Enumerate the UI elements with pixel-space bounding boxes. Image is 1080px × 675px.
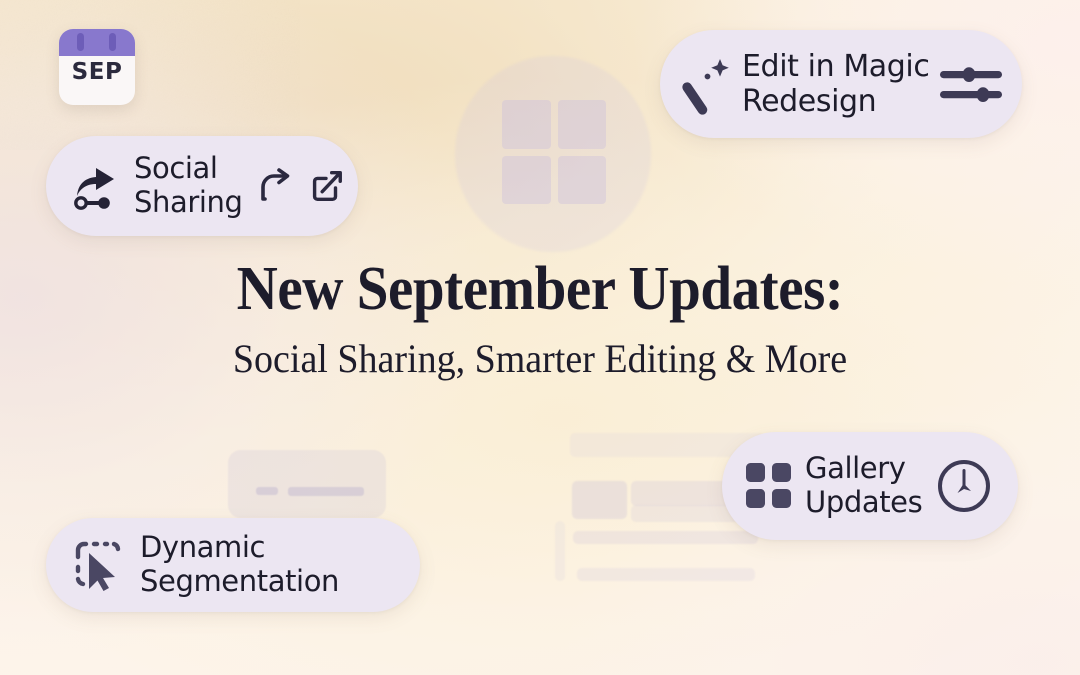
watermark-grid-icon (502, 100, 606, 204)
watermark-block (573, 531, 758, 544)
headline-block: New September Updates: Social Sharing, S… (0, 258, 1080, 381)
watermark-block (555, 521, 565, 581)
watermark-circle (455, 56, 651, 252)
calendar-month-label: SEP (59, 59, 135, 85)
pill-social-sharing[interactable]: Social Sharing (46, 136, 358, 236)
pill-dynamic-segmentation[interactable]: Dynamic Segmentation (46, 518, 420, 612)
pill-edit-in-magic-redesign[interactable]: Edit in Magic Redesign (660, 30, 1022, 138)
pill-label: Gallery Updates (805, 452, 922, 520)
external-share-icon[interactable] (255, 166, 295, 206)
pill-label: Edit in Magic Redesign (742, 49, 929, 119)
page-subtitle: Social Sharing, Smarter Editing & More (27, 337, 1053, 381)
watermark-block (577, 568, 755, 581)
background-grain-texture (0, 0, 300, 150)
page-title: New September Updates: (43, 258, 1037, 321)
magic-wand-icon (680, 47, 734, 121)
calendar-header-bar (59, 29, 135, 56)
watermark-grid-cell (558, 156, 607, 205)
sliders-icon[interactable] (938, 61, 1004, 107)
calendar-sep-icon: SEP (59, 29, 135, 105)
pill-label: Dynamic Segmentation (140, 531, 339, 599)
watermark-block (572, 481, 627, 519)
watermark-grid-cell (558, 100, 607, 149)
calendar-ring-right (109, 33, 116, 51)
pill-gallery-updates[interactable]: Gallery Updates (722, 432, 1018, 540)
watermark-grid-cell (502, 156, 551, 205)
promo-banner: SEP New September Updates: Social Sharin… (0, 0, 1080, 675)
watermark-card-left (228, 450, 386, 518)
calendar-ring-left (77, 33, 84, 51)
watermark-line (288, 487, 364, 496)
watermark-line (256, 487, 278, 495)
marquee-cursor-icon (72, 537, 124, 593)
clock-icon[interactable] (935, 457, 993, 515)
grid-2x2-icon (746, 463, 792, 509)
share-arrow-icon (70, 160, 122, 212)
watermark-grid-cell (502, 100, 551, 149)
edit-square-icon[interactable] (307, 167, 345, 205)
pill-label: Social Sharing (134, 152, 243, 219)
